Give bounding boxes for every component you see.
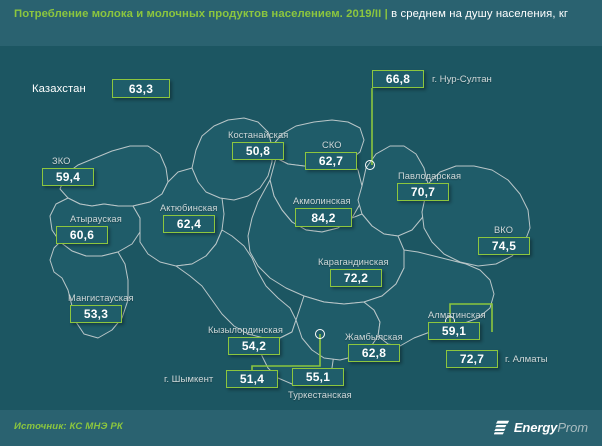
brand-energy: Energy xyxy=(514,420,557,435)
country-value-box[interactable]: 63,3 xyxy=(112,79,170,98)
country-label: Казахстан xyxy=(32,83,86,95)
city-marker-shymkent xyxy=(315,329,325,339)
region-label-karagandinskaya: Карагандинская xyxy=(318,257,389,267)
region-value-akmolinskaya[interactable]: 84,2 xyxy=(295,208,352,227)
page-title-highlight: Потребление молока и молочных продуктов … xyxy=(14,8,388,20)
map-stage: Казахстан 63,3 ЗКО Атырауская Мангистаус… xyxy=(0,46,602,410)
footer-band: Источник: КС МНЭ РК EnergyProm xyxy=(0,410,602,446)
region-value-kostanayskaya[interactable]: 50,8 xyxy=(232,142,284,160)
region-label-aktyubinskaya: Актюбинская xyxy=(160,203,217,213)
city-marker-nur-sultan xyxy=(365,160,375,170)
region-label-almatinskaya: Алматинская xyxy=(428,310,486,320)
region-label-zhambylskaya: Жамбылская xyxy=(345,332,403,342)
region-label-pavlodarskaya: Павлодарская xyxy=(398,171,461,181)
infographic-root: Потребление молока и молочных продуктов … xyxy=(0,0,602,446)
region-label-mangistauskaya: Мангистауская xyxy=(68,293,134,303)
region-value-pavlodarskaya[interactable]: 70,7 xyxy=(397,183,449,201)
energyprom-mark-icon xyxy=(494,420,510,435)
source-note: Источник: КС МНЭ РК xyxy=(14,421,123,432)
region-value-sko[interactable]: 62,7 xyxy=(305,152,357,170)
energyprom-wordmark: EnergyProm xyxy=(514,420,588,435)
city-label-nur-sultan: г. Нур-Султан xyxy=(432,74,492,85)
region-value-kyzylordinskaya[interactable]: 54,2 xyxy=(228,337,280,355)
region-value-aktyubinskaya[interactable]: 62,4 xyxy=(163,215,215,233)
region-value-zko[interactable]: 59,4 xyxy=(42,168,94,186)
region-value-mangistauskaya[interactable]: 53,3 xyxy=(70,305,122,323)
region-value-zhambylskaya[interactable]: 62,8 xyxy=(348,344,400,362)
region-value-karagandinskaya[interactable]: 72,2 xyxy=(330,269,382,287)
region-label-kyzylordinskaya: Кызылординская xyxy=(208,325,283,335)
region-value-vko[interactable]: 74,5 xyxy=(478,237,530,255)
region-value-atyrauskaya[interactable]: 60,6 xyxy=(56,226,108,244)
header-band: Потребление молока и молочных продуктов … xyxy=(0,0,602,46)
region-value-turkestanskaya[interactable]: 55,1 xyxy=(292,368,344,386)
page-title: Потребление молока и молочных продуктов … xyxy=(14,7,586,23)
page-title-rest: в среднем на душу населения, кг xyxy=(388,8,568,20)
region-label-akmolinskaya: Акмолинская xyxy=(293,196,351,206)
region-label-sko: СКО xyxy=(322,140,342,150)
city-label-shymkent: г. Шымкент xyxy=(164,374,213,385)
city-value-almaty[interactable]: 72,7 xyxy=(446,350,498,368)
city-label-almaty: г. Алматы xyxy=(505,354,548,365)
region-label-atyrauskaya: Атырауская xyxy=(70,214,122,224)
region-label-turkestanskaya: Туркестанская xyxy=(288,390,352,400)
city-value-nur-sultan[interactable]: 66,8 xyxy=(372,70,424,88)
region-value-almatinskaya[interactable]: 59,1 xyxy=(428,322,480,340)
region-label-vko: ВКО xyxy=(494,225,513,235)
brand-prom: Prom xyxy=(557,420,588,435)
energyprom-logo[interactable]: EnergyProm xyxy=(494,420,588,435)
city-value-shymkent[interactable]: 51,4 xyxy=(226,370,278,388)
region-label-kostanayskaya: Костанайская xyxy=(228,130,288,140)
region-label-zko: ЗКО xyxy=(52,156,70,166)
